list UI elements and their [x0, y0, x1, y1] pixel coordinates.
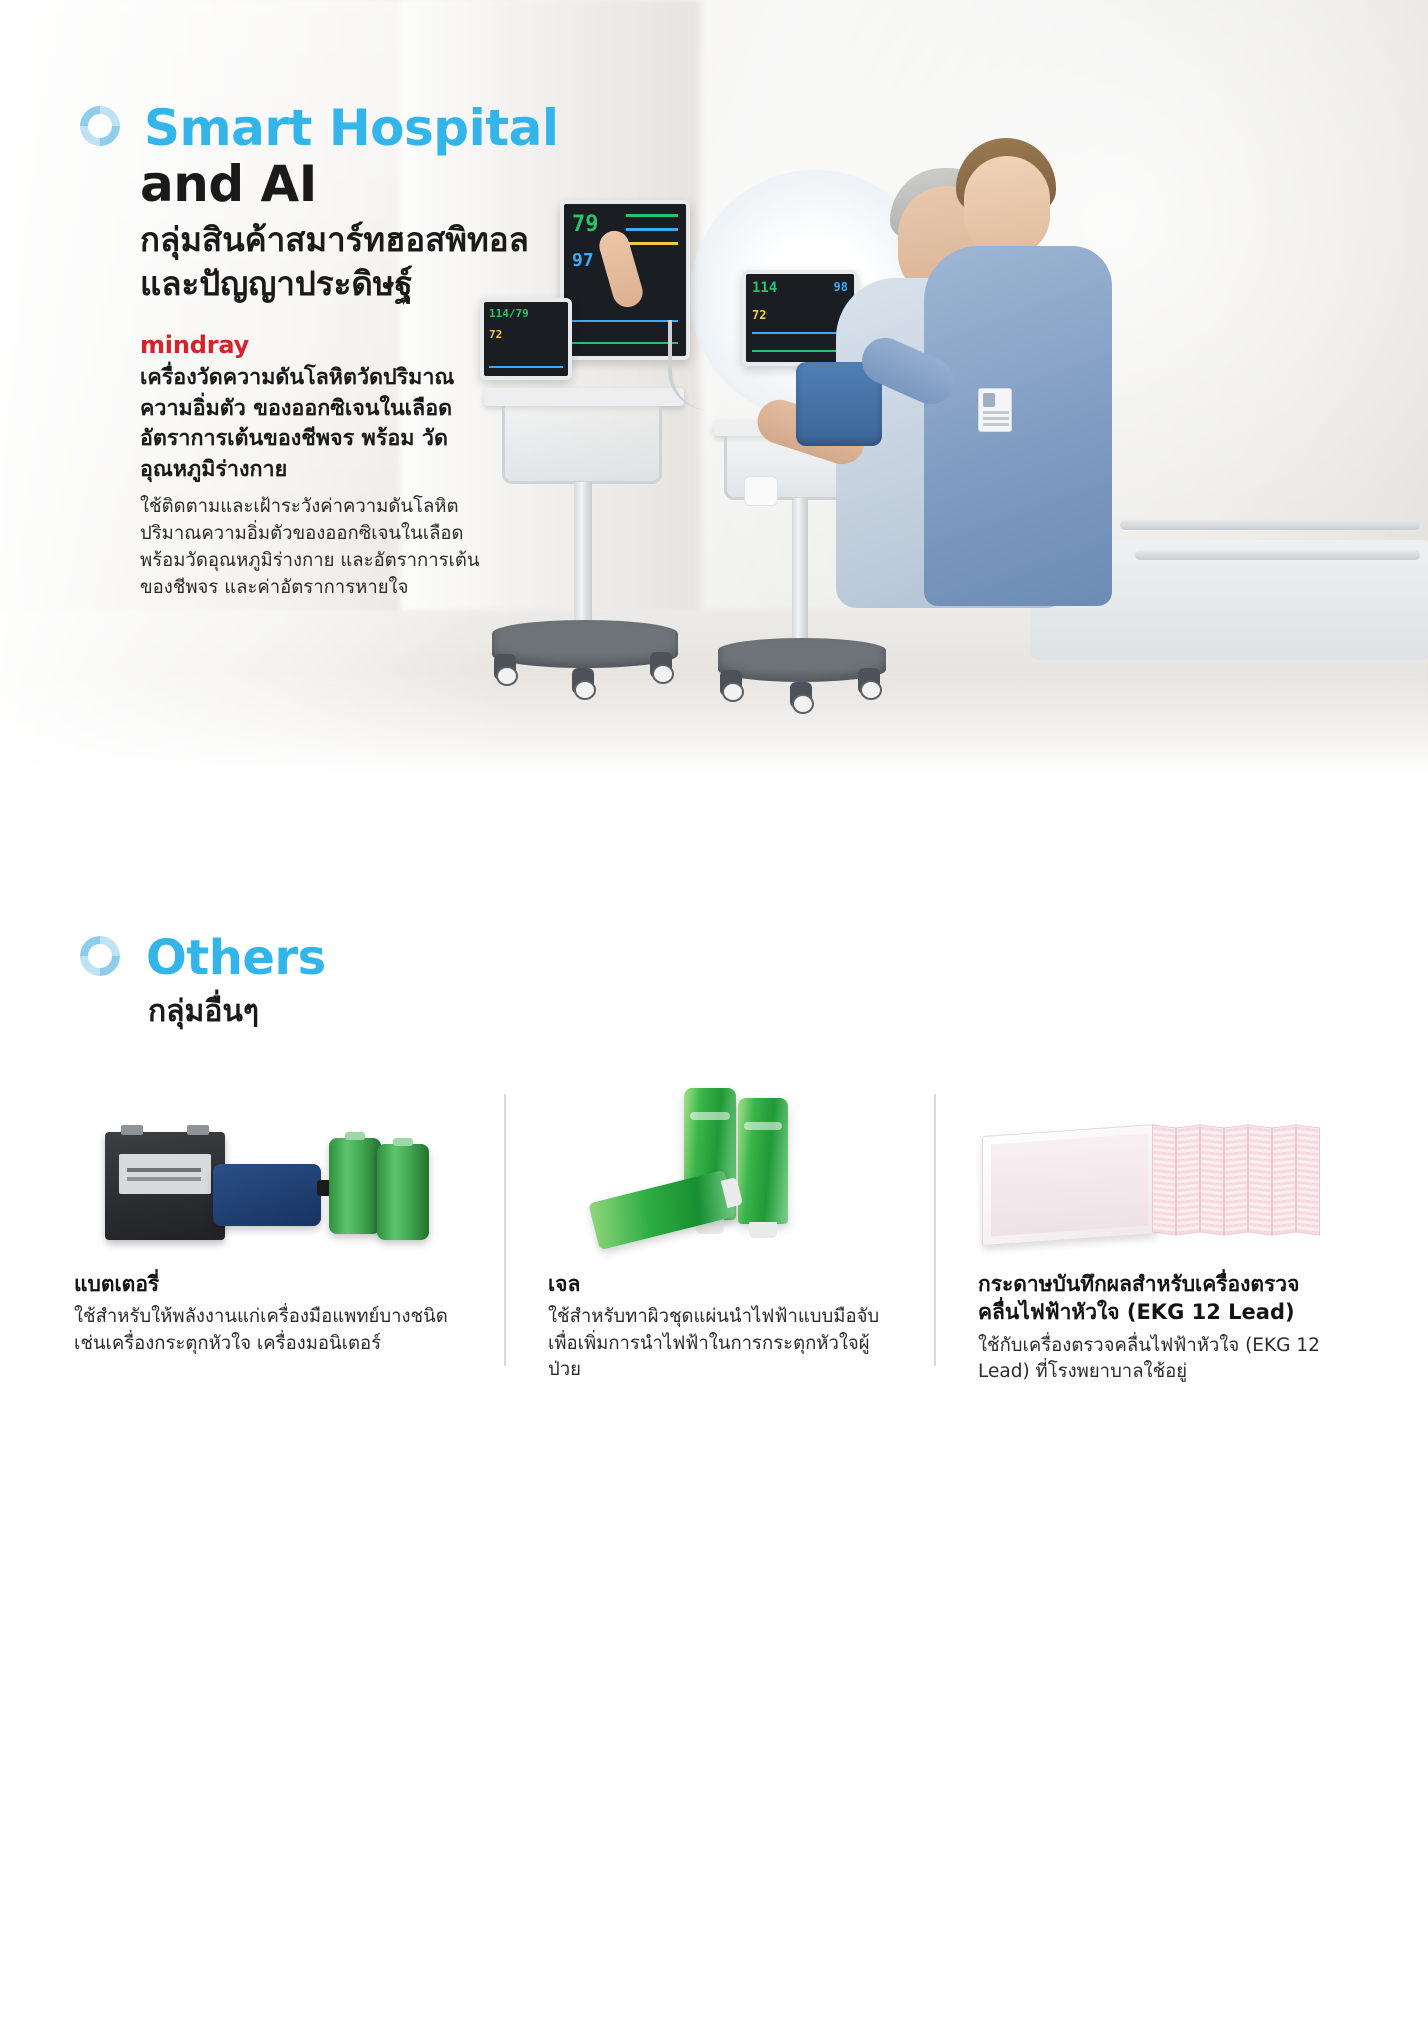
- nurse-head: [964, 156, 1050, 256]
- ekg-paper-icon: [978, 1090, 1326, 1240]
- others-title-thai: กลุ่มอื่นๆ: [148, 988, 1428, 1035]
- circular-arrows-icon: [74, 100, 126, 156]
- gel-tube-lying-icon: [588, 1170, 735, 1250]
- others-section: Others กลุ่มอื่นๆ: [0, 930, 1428, 1035]
- card-description: ใช้กับเครื่องตรวจคลื่นไฟฟ้าหัวใจ (EKG 12…: [978, 1333, 1326, 1386]
- cart-caster: [720, 670, 742, 696]
- nurse-id-badge: [978, 388, 1012, 432]
- mindray-brand-logo: mindray: [140, 331, 544, 359]
- bed-rail: [1135, 550, 1420, 560]
- cart-caster: [650, 652, 672, 678]
- hero-title-plain: and AI: [140, 156, 544, 212]
- battery-pack-icon: [74, 1090, 466, 1240]
- cylindrical-cell-icon: [329, 1138, 381, 1234]
- cart-caster: [858, 668, 880, 694]
- spo2-sensor: [744, 476, 778, 506]
- hero-product-bold-description: เครื่องวัดความดันโลหิตวัดปริมาณความอิ่มต…: [140, 363, 495, 485]
- others-heading-row: Others: [74, 930, 1428, 986]
- card-description: ใช้สำหรับให้พลังงานแก่เครื่องมือแพทย์บาง…: [74, 1304, 466, 1357]
- product-card-gel: เจล ใช้สำหรับทาผิวชุดแผ่นนำไฟฟ้าแบบมือจั…: [504, 1090, 934, 1385]
- hero-photo: 114 98 72 79 97: [560, 120, 1428, 770]
- hero-section: 114 98 72 79 97: [0, 0, 1428, 790]
- card-description: ใช้สำหรับทาผิวชุดแผ่นนำไฟฟ้าแบบมือจับเพื…: [548, 1304, 896, 1383]
- card-title: เจล: [548, 1270, 896, 1298]
- others-title: Others: [146, 930, 326, 986]
- gel-tube-standing-icon: [738, 1098, 788, 1224]
- hero-title-accent: Smart Hospital: [144, 102, 558, 155]
- cart-pole: [574, 482, 592, 632]
- hero-title-thai-line1: กลุ่มสินค้าสมาร์ทฮอสพิทอล: [140, 218, 544, 262]
- hero-title-row: Smart Hospital: [74, 100, 544, 156]
- catalog-page: 114 98 72 79 97: [0, 0, 1428, 2028]
- hero-title-thai-line2: และปัญญาประดิษฐ์: [140, 262, 544, 306]
- circular-arrows-icon: [74, 930, 126, 986]
- bed-rail: [1120, 520, 1420, 530]
- gel-tube-icon: [548, 1090, 896, 1240]
- nurse-scrubs: [924, 246, 1112, 606]
- battery-pack-blue-icon: [213, 1164, 321, 1226]
- cart-caster: [790, 682, 812, 708]
- card-title: กระดาษบันทึกผลสำหรับเครื่องตรวจคลื่นไฟฟ้…: [978, 1270, 1326, 1327]
- lead-acid-battery-icon: [105, 1132, 225, 1240]
- hero-product-body-description: ใช้ติดตามและเฝ้าระวังค่าความดันโลหิต ปริ…: [140, 493, 502, 601]
- product-card-ekg-paper: กระดาษบันทึกผลสำหรับเครื่องตรวจคลื่นไฟฟ้…: [934, 1090, 1364, 1385]
- cart-caster: [572, 668, 594, 694]
- hero-text-block: Smart Hospital and AI กลุ่มสินค้าสมาร์ทฮ…: [74, 100, 544, 601]
- cart-pole: [792, 498, 808, 648]
- others-card-list: แบตเตอรี่ ใช้สำหรับให้พลังงานแก่เครื่องม…: [74, 1090, 1364, 1385]
- ekg-paper-pack-icon: [982, 1124, 1157, 1246]
- card-title: แบตเตอรี่: [74, 1270, 466, 1298]
- cart-caster: [494, 654, 516, 680]
- cylindrical-cell-icon: [377, 1144, 429, 1240]
- card-divider: [504, 1094, 506, 1366]
- ekg-paper-fanfold-icon: [1152, 1126, 1322, 1238]
- product-card-battery: แบตเตอรี่ ใช้สำหรับให้พลังงานแก่เครื่องม…: [74, 1090, 504, 1385]
- card-divider: [934, 1094, 936, 1366]
